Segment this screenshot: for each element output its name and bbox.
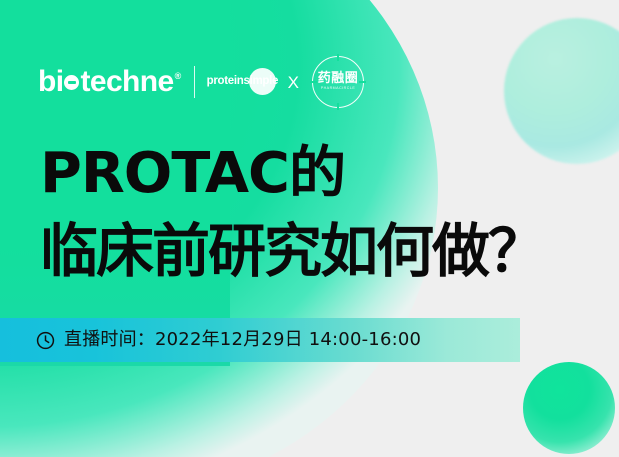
proteinsimple-logo: proteinsimple [207, 67, 277, 97]
biotechne-dot-mark-icon [64, 75, 79, 90]
logo-divider [194, 66, 195, 98]
decorative-mint-circle [504, 18, 619, 164]
biotechne-logo-text-after: techne [80, 67, 173, 97]
badge-tick-bottom [337, 103, 338, 110]
partner-badge-chinese-name: 药融圈 [312, 71, 364, 84]
headline-line-2: 临床前研究如何做？ [40, 222, 619, 280]
partner-badge-english-name: PHARMACIRCLE [312, 87, 364, 91]
logo-row: bi techne ® proteinsimple X 药融圈 PHARMACI… [38, 58, 364, 106]
proteinsimple-circle-mark-icon [249, 68, 276, 95]
webinar-poster: bi techne ® proteinsimple X 药融圈 PHARMACI… [0, 0, 619, 457]
decorative-green-circle [523, 362, 615, 454]
headline-line-1: PROTAC的 [40, 146, 619, 202]
broadcast-time-content: 直播时间：2022年12月29日 14:00-16:00 [36, 331, 421, 350]
headline: PROTAC的 临床前研究如何做？ [40, 146, 619, 280]
clock-icon [36, 331, 55, 350]
badge-tick-top [337, 54, 338, 61]
broadcast-time-text: 直播时间：2022年12月29日 14:00-16:00 [64, 331, 421, 349]
logo-separator-x: X [288, 74, 299, 91]
broadcast-time-bar: 直播时间：2022年12月29日 14:00-16:00 [0, 318, 520, 362]
biotechne-logo: bi techne ® [38, 67, 181, 97]
biotechne-logo-text-before: bi [38, 67, 63, 97]
registered-mark: ® [175, 72, 181, 81]
partner-circle-badge-icon: 药融圈 PHARMACIRCLE [312, 56, 364, 108]
